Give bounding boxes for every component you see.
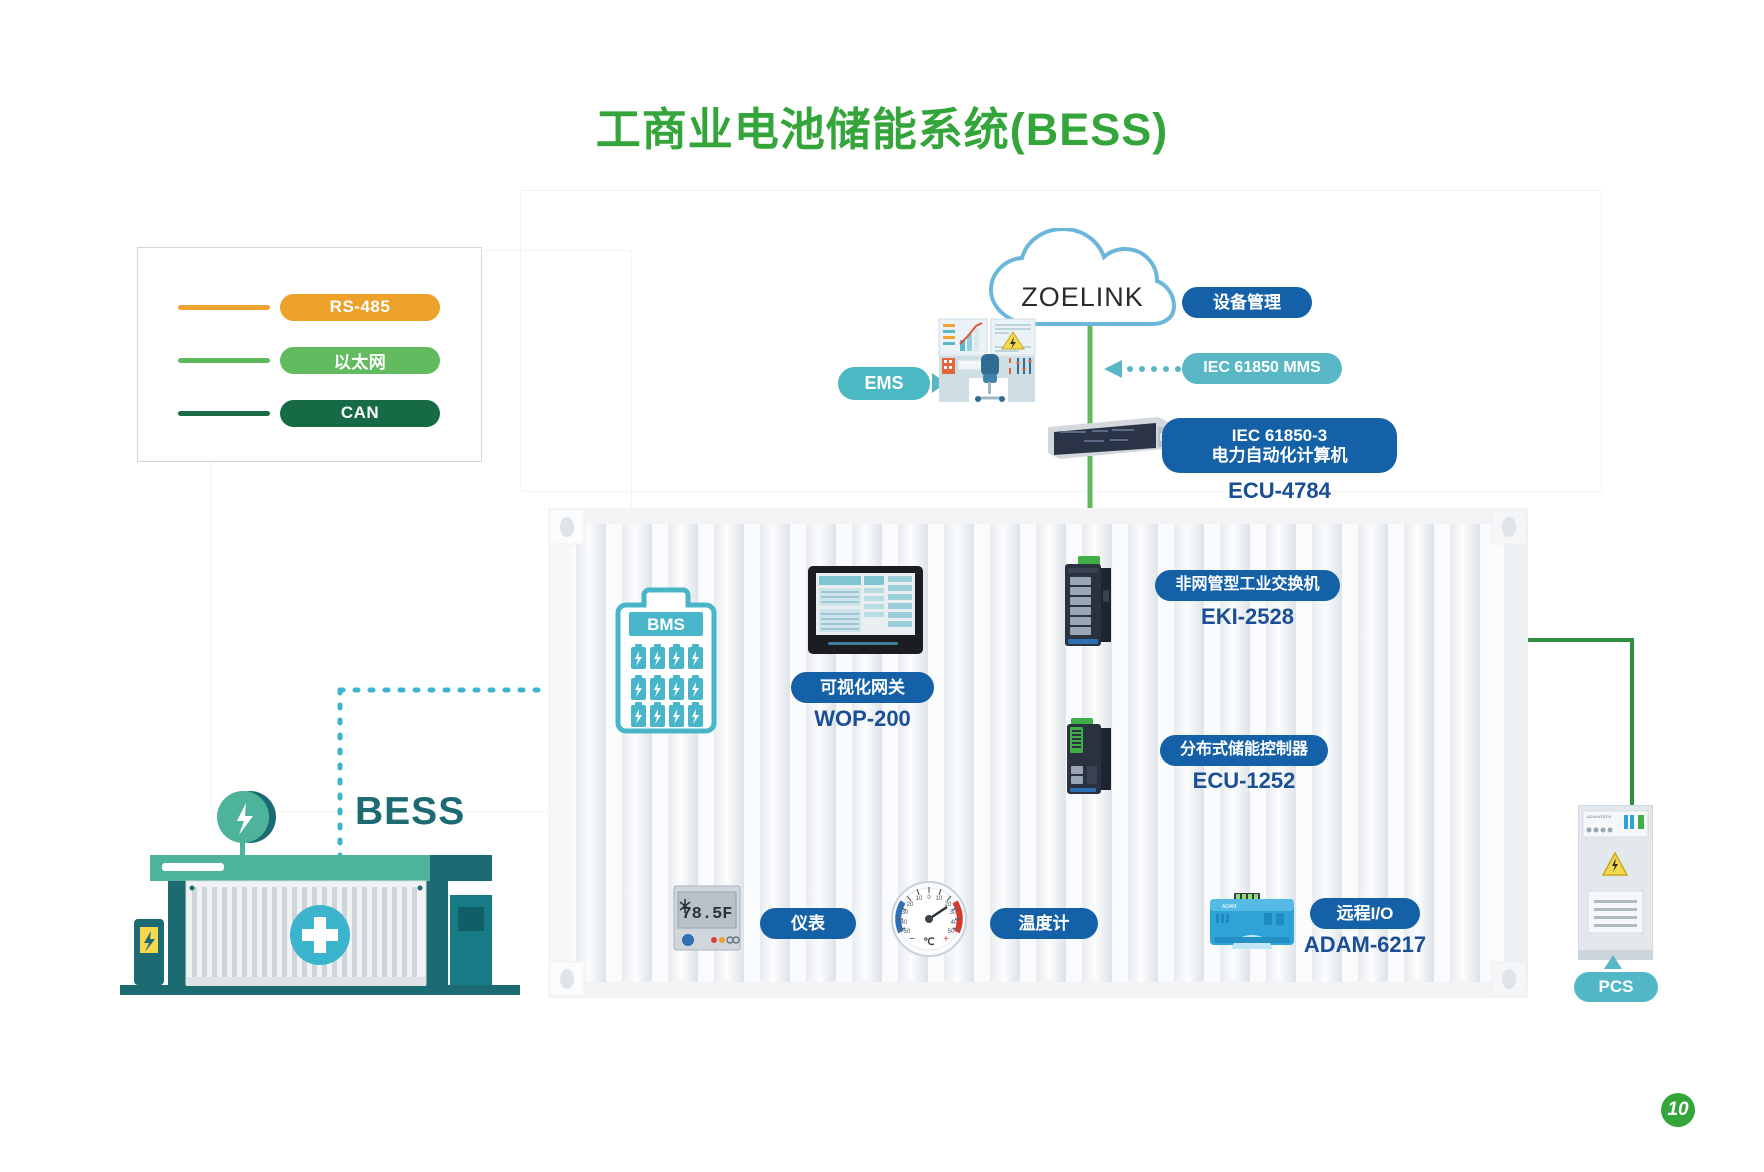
- label-iec61850-mms: IEC 61850 MMS: [1182, 353, 1342, 384]
- page-number-badge: 10: [1661, 1093, 1695, 1127]
- workstation-illustration: [938, 318, 1043, 403]
- label-unmanaged-switch: 非网管型工业交换机: [1155, 570, 1340, 601]
- label-thermometer: 温度计: [990, 908, 1098, 939]
- label-meter: 仪表: [760, 908, 856, 939]
- remote-io-adam6217: ADAM: [1208, 893, 1296, 949]
- thermo-tick-r30: 30: [950, 910, 957, 916]
- mms-arrow-icon: [1104, 358, 1182, 380]
- label-iec61850-3-line1: IEC 61850-3: [1212, 426, 1348, 446]
- pcs-brand: ADVANTECH: [1587, 814, 1611, 819]
- model-adam-6217: ADAM-6217: [1290, 932, 1440, 958]
- hmi-panel-wop200: [808, 566, 923, 654]
- thermo-plus: +: [943, 934, 949, 945]
- cloud-label: ZOELINK: [985, 282, 1180, 313]
- industrial-switch-eki2528: [1062, 556, 1117, 651]
- thermometer-gauge: 0 1010 2020 3030 4040 5050 ℃ − +: [890, 880, 968, 958]
- bess-building-illustration: [120, 755, 565, 1000]
- energy-controller-ecu1252: [1065, 718, 1117, 798]
- model-wop-200: WOP-200: [791, 706, 934, 732]
- thermo-tick-l10: 10: [916, 896, 923, 902]
- rack-server-ecu4784: [1040, 415, 1175, 460]
- thermo-unit: ℃: [923, 937, 934, 948]
- thermo-tick-r40: 40: [951, 920, 958, 926]
- bess-label: BESS: [355, 790, 465, 834]
- thermo-minus: −: [909, 934, 915, 945]
- model-eki-2528: EKI-2528: [1155, 604, 1340, 630]
- label-iec61850-3-computer: IEC 61850-3 电力自动化计算机: [1162, 418, 1397, 473]
- thermo-tick-l40: 40: [901, 920, 908, 926]
- bms-label: BMS: [647, 615, 685, 634]
- label-remote-io: 远程I/O: [1310, 898, 1420, 929]
- meter-reading: 78.5F: [681, 905, 732, 924]
- adam-brand: ADAM: [1222, 904, 1236, 910]
- thermo-tick-r10: 10: [936, 896, 943, 902]
- diagram-canvas: 工商业电池储能系统(BESS) RS-485 以太网 CAN: [0, 0, 1764, 1172]
- label-device-management: 设备管理: [1182, 287, 1312, 318]
- model-ecu-4784: ECU-4784: [1162, 478, 1397, 504]
- thermo-tick-l20: 20: [907, 902, 914, 908]
- label-iec61850-3-line2: 电力自动化计算机: [1212, 446, 1348, 466]
- ems-label: EMS: [838, 367, 930, 400]
- bms-battery-icon: BMS: [611, 584, 721, 734]
- pcs-cabinet-illustration: ADVANTECH: [1578, 805, 1653, 960]
- model-ecu-1252: ECU-1252: [1160, 768, 1328, 794]
- label-distributed-controller: 分布式储能控制器: [1160, 735, 1328, 766]
- label-pcs: PCS: [1574, 972, 1658, 1002]
- label-visualization-gateway: 可视化网关: [791, 672, 934, 703]
- thermo-tick-l30: 30: [902, 910, 909, 916]
- power-meter-device: 78.5F: [672, 884, 742, 954]
- pcs-arrow-icon: [1604, 955, 1622, 969]
